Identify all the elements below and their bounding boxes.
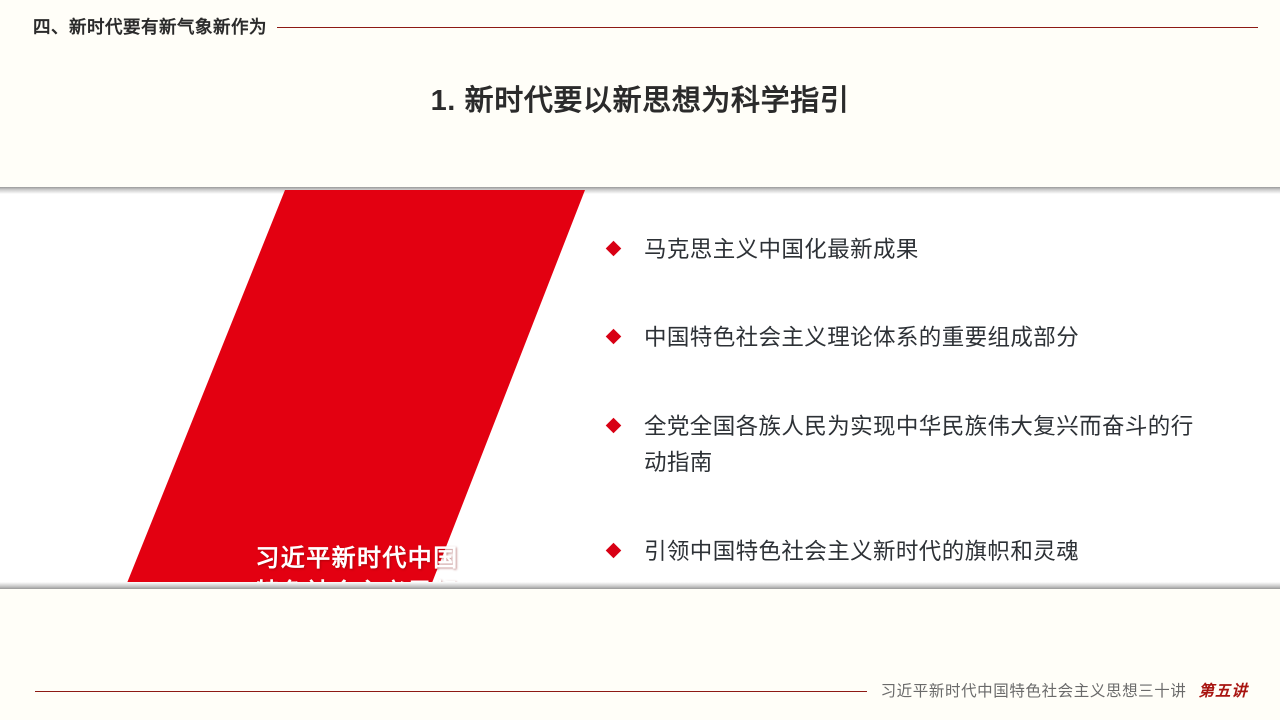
- red-parallelogram: [0, 190, 640, 588]
- list-item: 马克思主义中国化最新成果: [608, 232, 1208, 268]
- list-item: 全党全国各族人民为实现中华民族伟大复兴而奋斗的行动指南: [608, 409, 1208, 482]
- footer: 习近平新时代中国特色社会主义思想三十讲 第五讲: [35, 679, 1248, 701]
- page-title: 1. 新时代要以新思想为科学指引: [0, 77, 1280, 119]
- diamond-bullet-icon: [606, 329, 622, 345]
- diamond-bullet-icon: [606, 241, 622, 257]
- list-item-label: 引领中国特色社会主义新时代的旗帜和灵魂: [644, 534, 1079, 570]
- list-item: 引领中国特色社会主义新时代的旗帜和灵魂: [608, 534, 1208, 570]
- bottom-band-divider: [0, 582, 1280, 589]
- callout-shape-container: 习近平新时代中国 特色社会主义思想: [0, 190, 640, 588]
- list-item: 中国特色社会主义理论体系的重要组成部分: [608, 320, 1208, 356]
- diamond-bullet-icon: [606, 418, 622, 434]
- callout-label-line1: 习近平新时代中国: [222, 542, 492, 576]
- list-item-label: 中国特色社会主义理论体系的重要组成部分: [644, 320, 1079, 356]
- list-item-label: 马克思主义中国化最新成果: [644, 232, 919, 268]
- section-header-label: 四、新时代要有新气象新作为: [33, 14, 267, 39]
- list-item-label: 全党全国各族人民为实现中华民族伟大复兴而奋斗的行动指南: [644, 409, 1208, 482]
- section-header: 四、新时代要有新气象新作为: [33, 14, 1258, 39]
- diamond-bullet-icon: [606, 542, 622, 558]
- bullet-list: 马克思主义中国化最新成果 中国特色社会主义理论体系的重要组成部分 全党全国各族人…: [608, 232, 1208, 570]
- slide: 四、新时代要有新气象新作为 1. 新时代要以新思想为科学指引 习近平新时代中国 …: [0, 0, 1280, 720]
- footer-rule: [35, 691, 867, 692]
- footer-label: 习近平新时代中国特色社会主义思想三十讲: [881, 679, 1187, 701]
- section-header-rule: [277, 27, 1258, 28]
- footer-lecture-badge: 第五讲: [1198, 679, 1248, 701]
